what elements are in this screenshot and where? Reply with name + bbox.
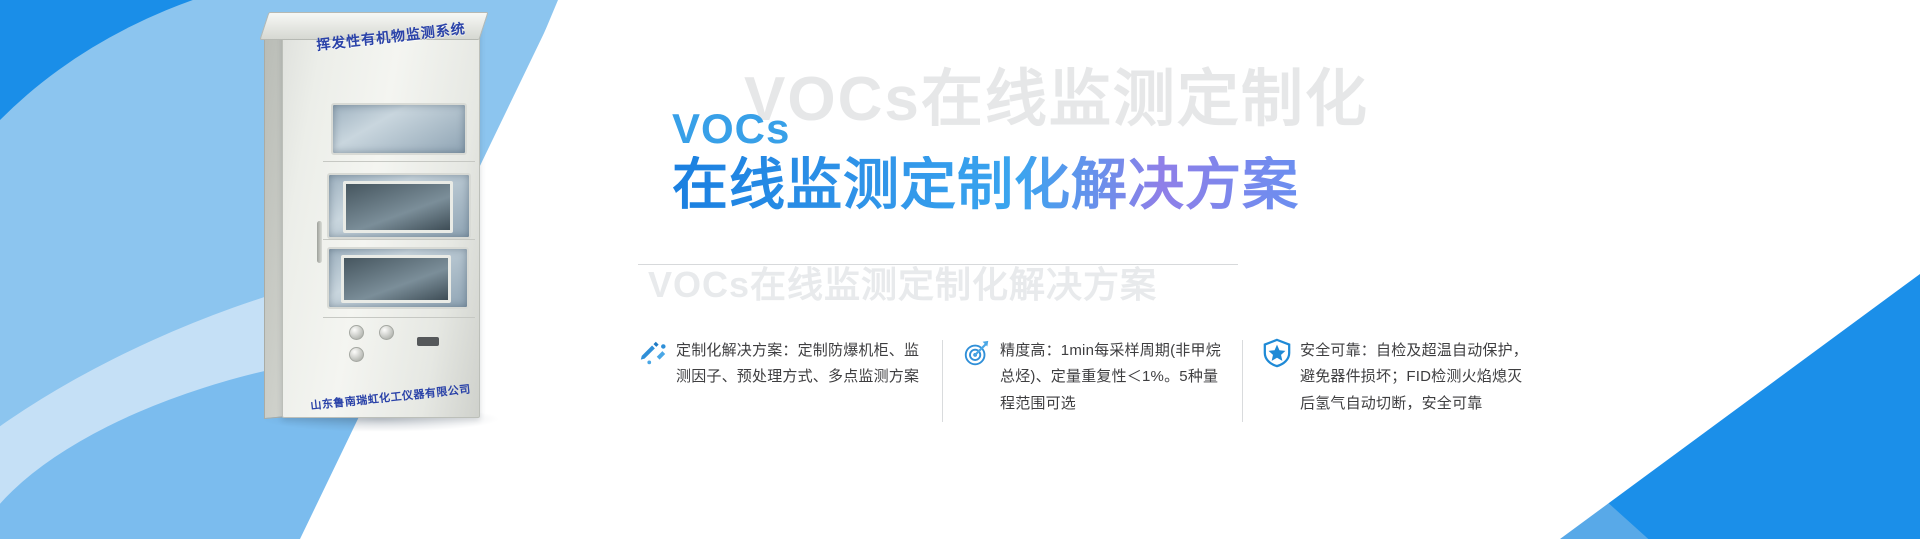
feature-list: 定制化解决方案：定制防爆机柜、监测因子、预处理方式、多点监测方案 精度高：1mi… (638, 338, 1538, 417)
target-dart-icon (962, 338, 992, 368)
cabinet-seam-1 (323, 161, 475, 162)
feature-item-high-precision: 精度高：1min每采样周期(非甲烷总烃)、定量重复性＜1%。5种量程范围可选 (938, 338, 1238, 417)
shield-star-icon (1262, 338, 1292, 368)
feature-text: 精度高：1min每采样周期(非甲烷总烃)、定量重复性＜1%。5种量程范围可选 (1000, 338, 1228, 417)
cabinet-screen-middle (343, 181, 453, 233)
headline-main: 在线监测定制化解决方案 (672, 156, 1299, 215)
tools-pen-icon (638, 338, 668, 368)
cabinet-screen-bottom (341, 255, 451, 303)
cabinet-window-top (331, 103, 467, 155)
feature-item-custom-solution: 定制化解决方案：定制防爆机柜、监测因子、预处理方式、多点监测方案 (638, 338, 938, 391)
vocs-solution-banner: 挥发性有机物监测系统 山东鲁南瑞虹化工仪器有限公司 VOCs在线监测定制化 VO… (0, 0, 1920, 539)
feature-text: 定制化解决方案：定制防爆机柜、监测因子、预处理方式、多点监测方案 (676, 338, 928, 391)
cabinet-front-panel (282, 24, 480, 418)
cabinet-knob-1 (349, 325, 364, 340)
headline-eyebrow: VOCs (672, 108, 1299, 150)
cabinet-seam-2 (323, 239, 475, 240)
product-cabinet-image: 挥发性有机物监测系统 山东鲁南瑞虹化工仪器有限公司 (264, 6, 492, 426)
headline-divider (638, 264, 1238, 265)
cabinet-indicator-led (417, 337, 439, 346)
cabinet-seam-3 (323, 317, 475, 318)
feature-item-safe-reliable: 安全可靠：自检及超温自动保护，避免器件损坏；FID检测火焰熄灭后氢气自动切断，安… (1238, 338, 1538, 417)
cabinet-knob-3 (349, 347, 364, 362)
headline-block: VOCs 在线监测定制化解决方案 (672, 108, 1299, 215)
feature-text: 安全可靠：自检及超温自动保护，避免器件损坏；FID检测火焰熄灭后氢气自动切断，安… (1300, 338, 1528, 417)
cabinet-knob-2 (379, 325, 394, 340)
cabinet-door-handle (317, 221, 322, 263)
